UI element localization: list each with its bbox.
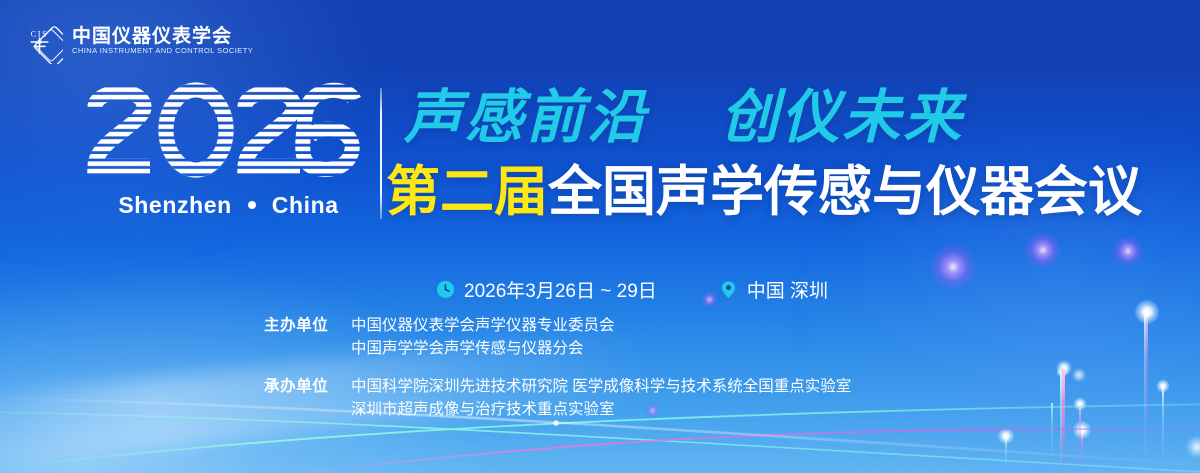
event-location-text: 中国 深圳	[747, 276, 828, 303]
light-trail	[1061, 369, 1063, 473]
light-trail	[1063, 370, 1065, 473]
separator-dot	[248, 201, 256, 209]
organizer-lines: 中国科学院深圳先进技术研究院 医学成像科学与技术系统全国重点实验室 深圳市超声成…	[351, 375, 851, 422]
vertical-divider	[380, 88, 382, 219]
light-trail	[1060, 370, 1062, 473]
logo-name-cn: 中国仪器仪表学会	[72, 27, 253, 46]
slogan-part-1: 声感前沿	[404, 85, 648, 150]
light-trail	[1063, 368, 1065, 473]
conference-title: 第二届全国声学传感与仪器会议	[386, 163, 1142, 221]
organizer-label: 承办单位	[264, 375, 340, 398]
bokeh-dot	[1072, 368, 1086, 382]
event-date-text: 2026年3月26日 ~ 29日	[464, 276, 657, 303]
event-location: 中国 深圳	[719, 276, 828, 303]
city-country-label: Shenzhen China	[86, 192, 371, 219]
light-trail	[1062, 370, 1064, 473]
bokeh-dot	[1025, 232, 1061, 268]
light-trail	[1061, 372, 1063, 473]
city-label: Shenzhen	[118, 192, 231, 218]
light-trail	[1062, 371, 1064, 473]
organizer-row: 承办单位 中国科学院深圳先进技术研究院 医学成像科学与技术系统全国重点实验室 深…	[264, 375, 851, 422]
light-trail	[1062, 370, 1064, 473]
light-trail	[1063, 371, 1065, 473]
light-trail	[1144, 310, 1146, 473]
light-trail	[1060, 371, 1062, 473]
light-trail	[1051, 403, 1053, 473]
organizer-line: 深圳市超声成像与治疗技术重点实验室	[351, 398, 851, 421]
organizer-line: 中国声学学会声学传感与仪器分会	[351, 337, 615, 360]
bokeh-dot	[1113, 236, 1143, 266]
svg-text:CIS: CIS	[31, 30, 49, 39]
organizer-lines: 中国仪器仪表学会声学仪器专业委员会 中国声学学会声学传感与仪器分会	[351, 314, 615, 361]
society-logo: CIS 中国仪器仪表学会 CHINA INSTRUMENT AND CONTRO…	[16, 17, 253, 64]
conference-banner: CIS 中国仪器仪表学会 CHINA INSTRUMENT AND CONTRO…	[0, 0, 1200, 473]
title-main: 全国声学传感与仪器会议	[548, 162, 1142, 222]
light-trail	[1061, 372, 1063, 473]
country-label: China	[272, 192, 339, 218]
organizer-line: 中国仪器仪表学会声学仪器专业委员会	[351, 314, 615, 337]
slogan-part-2: 创仪未来	[720, 85, 964, 150]
clock-icon	[436, 280, 455, 299]
cis-emblem-icon: CIS	[16, 17, 63, 64]
light-trail	[1079, 404, 1081, 473]
title-edition: 第二届	[386, 162, 548, 222]
light-trail	[1146, 312, 1148, 473]
organizer-label: 主办单位	[264, 314, 340, 337]
light-trail	[1005, 436, 1007, 473]
map-pin-icon	[719, 280, 738, 299]
bokeh-dot	[930, 244, 976, 290]
light-trail	[1060, 370, 1062, 473]
organizer-section: 主办单位 中国仪器仪表学会声学仪器专业委员会 中国声学学会声学传感与仪器分会 承…	[264, 314, 851, 421]
light-trail	[1162, 386, 1164, 473]
organizer-row: 主办单位 中国仪器仪表学会声学仪器专业委员会 中国声学学会声学传感与仪器分会	[264, 314, 851, 361]
bokeh-dot	[1186, 436, 1200, 458]
light-trail	[1081, 430, 1083, 473]
organizer-line: 中国科学院深圳先进技术研究院 医学成像科学与技术系统全国重点实验室	[351, 375, 851, 398]
event-meta: 2026年3月26日 ~ 29日 中国 深圳	[436, 276, 828, 303]
year-block: Shenzhen China	[86, 80, 371, 219]
slogan-line: 声感前沿 创仪未来	[404, 88, 964, 149]
event-date: 2026年3月26日 ~ 29日	[436, 276, 657, 303]
year-2026-graphic	[86, 80, 364, 185]
logo-name-en: CHINA INSTRUMENT AND CONTROL SOCIETY	[72, 47, 253, 55]
